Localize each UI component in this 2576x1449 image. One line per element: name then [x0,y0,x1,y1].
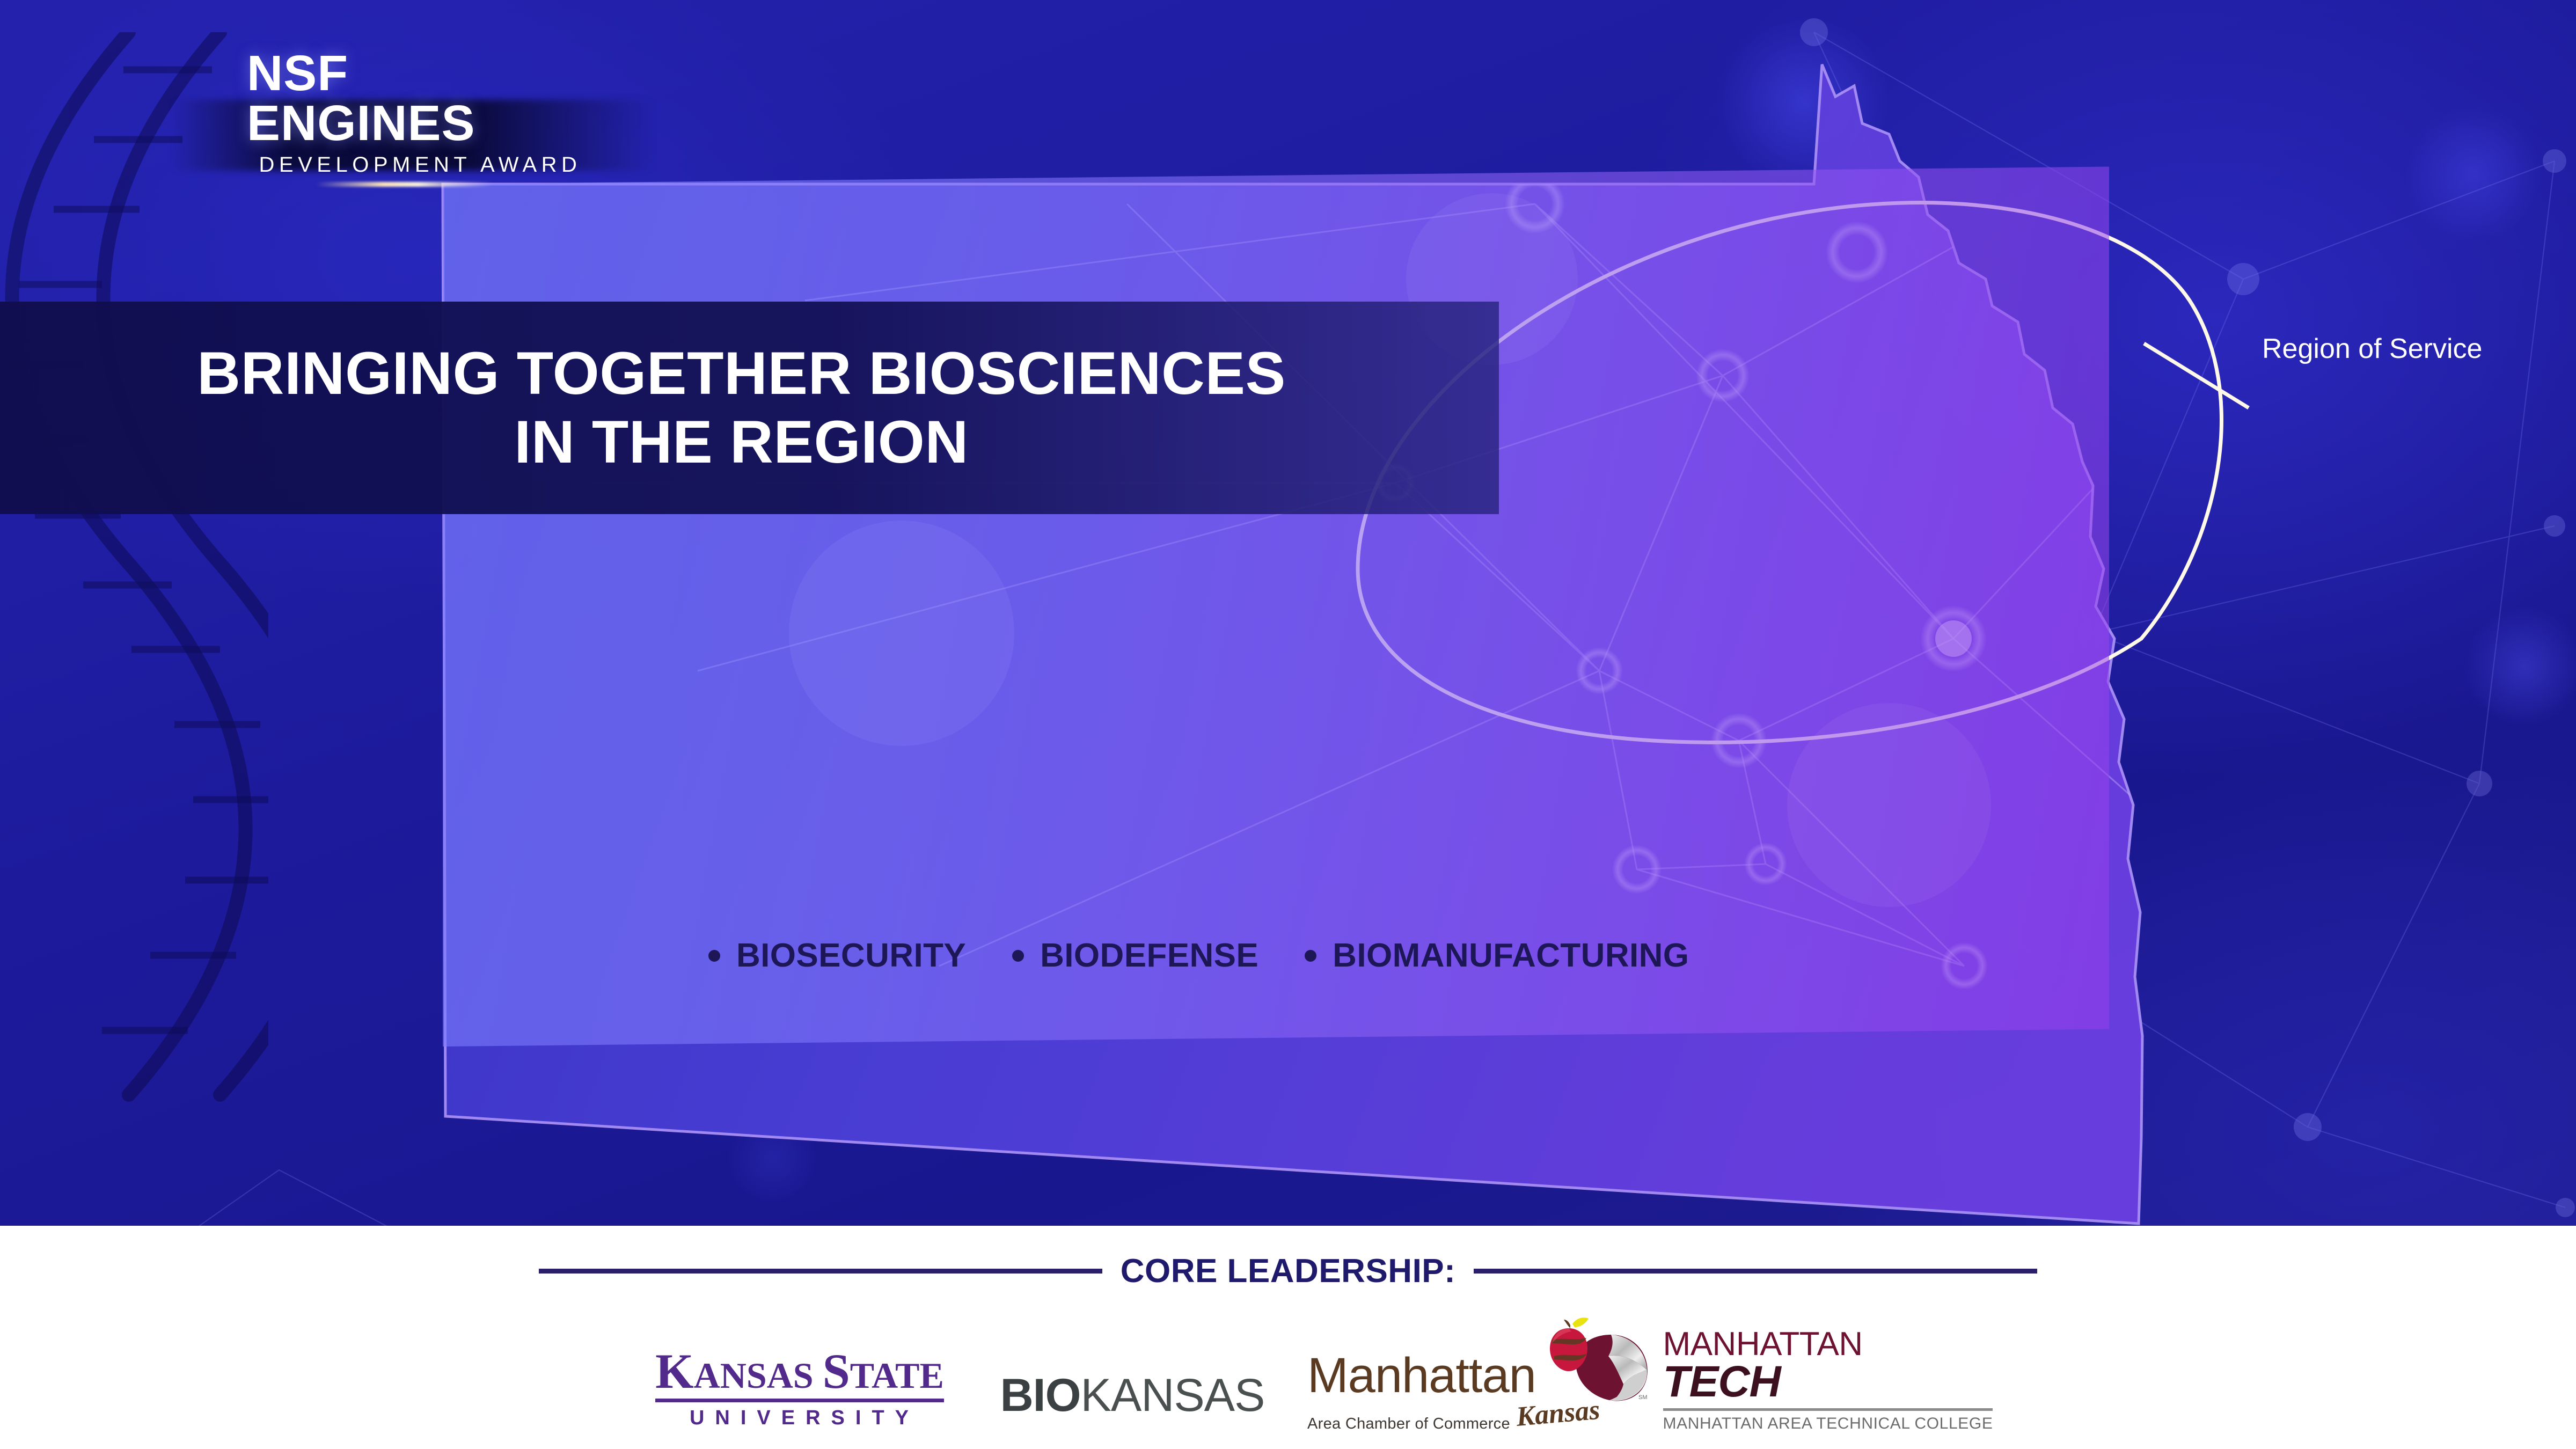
logo-biokansas: BIOKANSAS [971,1306,1293,1440]
nsf-engines-logo: NSF ENGINES DEVELOPMENT AWARD [247,48,590,187]
nsf-logo-subtitle: DEVELOPMENT AWARD [247,153,590,177]
biokansas-bio-text: BIO [1000,1370,1081,1421]
logo-kansas-state-university: KANSAS STATE UNIVERSITY [628,1306,971,1440]
divider-left [539,1269,1102,1274]
focus-area-label: BIODEFENSE [1040,936,1258,975]
bullet-dot-icon [1305,950,1316,962]
bullet-dot-icon [708,950,720,962]
svg-text:SM: SM [1638,1394,1648,1401]
headline-line-2: IN THE REGION [514,408,969,477]
biokansas-kansas-text: KANSAS [1080,1370,1264,1421]
mantech-full-name: MANHATTAN AREA TECHNICAL COLLEGE [1663,1415,1993,1433]
list-item: BIOMANUFACTURING [1305,936,1689,975]
focus-areas-list: BIOSECURITY BIODEFENSE BIOMANUFACTURING [708,936,1689,975]
headline-block: BRINGING TOGETHER BIOSCIENCES IN THE REG… [0,302,1499,514]
chamber-subtitle: Area Chamber of Commerce [1307,1415,1510,1433]
chamber-kansas-script: Kansas [1515,1394,1601,1433]
partner-logos-row: KANSAS STATE UNIVERSITY BIOKANSAS [0,1306,2576,1440]
core-leadership-heading: CORE LEADERSHIP: [0,1252,2576,1290]
mantech-rule [1663,1408,1993,1411]
focus-area-label: BIOSECURITY [736,936,966,975]
kstate-wordmark: KANSAS STATE [655,1347,944,1395]
logo-manhattan-tech: SM MANHATTAN TECH MANHATTAN AREA TECHNIC… [1615,1306,1948,1440]
region-of-service-label: Region of Service [2262,333,2482,365]
apple-icon [1546,1316,1592,1372]
kstate-university-text: UNIVERSITY [655,1407,944,1430]
nsf-logo-main-text: NSF ENGINES [247,48,590,148]
divider-right [1474,1269,2037,1274]
core-leadership-label: CORE LEADERSHIP: [1121,1252,1456,1290]
list-item: BIOSECURITY [708,936,966,975]
list-item: BIODEFENSE [1012,936,1258,975]
logo-manhattan-chamber: Manhattan Area Chamber of Commerce Kansa… [1293,1306,1615,1440]
bullet-dot-icon [1012,950,1024,962]
nsf-logo-underline-glow [316,182,493,187]
kstate-rule [655,1399,944,1402]
slide-canvas: NSF ENGINES DEVELOPMENT AWARD BRINGING T… [0,0,2576,1449]
mantech-tech-text: TECH [1663,1361,1993,1403]
headline-line-1: BRINGING TOGETHER BIOSCIENCES [197,339,1286,408]
footer-bar: CORE LEADERSHIP: KANSAS STATE UNIVERSITY… [0,1226,2576,1449]
mantech-manhattan-text: MANHATTAN [1663,1328,1993,1361]
focus-area-label: BIOMANUFACTURING [1333,936,1689,975]
